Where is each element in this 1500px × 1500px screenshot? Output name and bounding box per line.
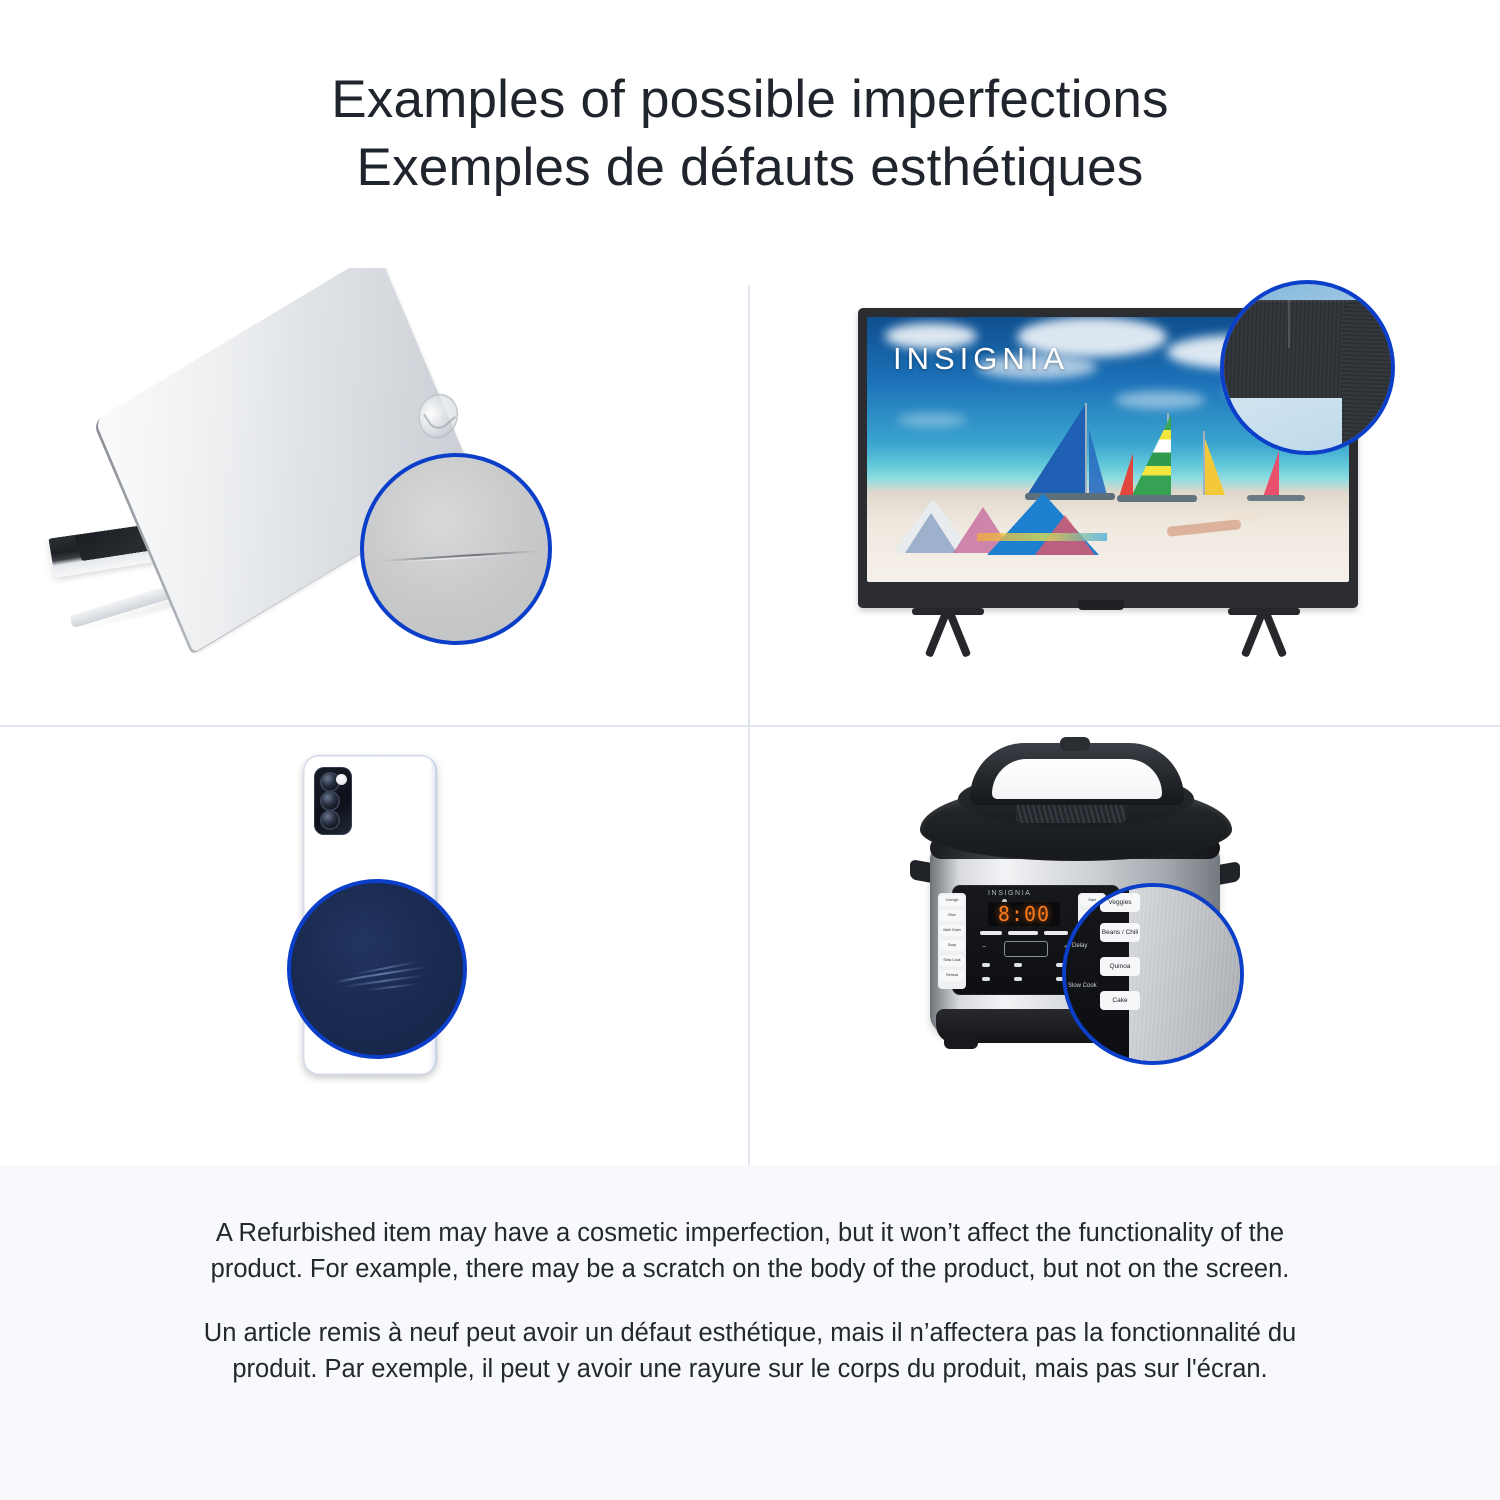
magnifier-smartphone [287,879,467,1059]
panel-indicator-bar [1044,931,1068,935]
cooker-handle-opening [992,759,1162,799]
panel-indicator-bar [980,931,1002,935]
cooker-button-magnified[interactable]: Quinoa [1100,957,1140,976]
cooker-button[interactable]: Rice [940,910,964,921]
cooker-lid-badge [1016,803,1126,823]
panel-center-button[interactable] [1004,941,1048,957]
cooker-lid-handle [970,743,1184,805]
pressure-cooker-illustration: INSIGNIA 8:00 − + [910,737,1340,1157]
cooker-button-magnified[interactable]: Beans / Chili [1100,923,1140,942]
cooker-button-column-left: Corn/gh Rice Multi Grain Soup Slow Cook … [938,893,966,989]
hull-striped [1117,495,1197,502]
cooker-display-value: 8:00 [998,904,1050,924]
tv-side-bezel-magnified [1342,300,1395,455]
beach-tent [905,513,957,553]
scratch-mark-laptop [382,549,538,561]
cloud-shape [1115,391,1205,409]
camera-lens-icon [320,810,340,830]
example-cell-pressure-cooker: INSIGNIA 8:00 − + [750,727,1500,1165]
footer-paragraph-fr: Un article remis à neuf peut avoir un dé… [185,1315,1315,1387]
page-footer: A Refurbished item may have a cosmetic i… [0,1165,1500,1500]
example-cell-television: INSIGNIA [750,268,1500,725]
magnifier-pressure-cooker: Delay Slow Cook Veggies Beans / Chili Qu… [1062,883,1244,1065]
sail-pink [1263,451,1279,497]
panel-indicator-bar [1008,931,1038,935]
cooker-brand-wordmark: INSIGNIA [988,890,1032,897]
page-header: Examples of possible imperfections Exemp… [0,0,1500,268]
scratch-mark-cooker [1239,1005,1244,1015]
scratch-mark-phone [331,959,441,993]
cooker-label-magnified: Delay [1072,943,1087,949]
page-title-fr: Exemples de défauts esthétiques [357,134,1144,202]
tv-bezel-seam [1288,300,1290,348]
tv-leg-right [1218,608,1314,662]
imperfections-infographic: Examples of possible imperfections Exemp… [0,0,1500,1500]
minus-icon[interactable]: − [982,945,988,951]
cooker-label-magnified: Slow Cook [1068,983,1097,989]
camera-lens-icon [320,791,340,811]
example-cell-smartphone [0,727,748,1165]
cooker-button[interactable]: Reheat [940,970,964,981]
cooker-foot [944,1037,978,1049]
footer-paragraph-en: A Refurbished item may have a cosmetic i… [185,1215,1315,1287]
sail-striped [1131,415,1171,497]
beach-object [1167,519,1242,537]
beach-banner [977,533,1107,541]
panel-small-button[interactable] [1014,963,1022,967]
smartphone-illustration [245,747,505,1147]
television-illustration: INSIGNIA [850,280,1390,700]
cooker-button-magnified[interactable]: Veggies [1100,893,1140,912]
laptop-illustration [40,298,600,698]
camera-module-icon [314,767,352,835]
tv-brand-wordmark: INSIGNIA [893,341,1069,377]
sail-mast [1203,431,1205,495]
page-title-en: Examples of possible imperfections [331,66,1169,134]
steel-grain-texture [1129,887,1240,1061]
cooker-steel-magnified [1129,887,1240,1061]
sail-blue-jib [1089,429,1107,495]
cooker-button[interactable]: Soup [940,940,964,951]
panel-small-button[interactable] [982,963,990,967]
cooker-button[interactable]: Multi Grain [940,925,964,936]
sail-yellow [1203,433,1225,495]
cooker-steam-valve [1060,737,1090,751]
panel-small-button[interactable] [982,977,990,981]
magnifier-laptop [360,453,552,645]
tv-center-mount [1078,600,1124,610]
example-cell-laptop [0,268,748,725]
camera-flash-icon [336,774,347,785]
cooker-button[interactable]: Slow Cook [940,955,964,966]
cooker-led-display: 8:00 [988,902,1060,926]
cooker-button[interactable]: Corn/gh [940,895,964,906]
examples-grid: INSIGNIA [0,268,1500,1165]
tv-leg-left [902,608,998,662]
cloud-shape [897,413,967,427]
sail-red-jib [1119,453,1133,497]
panel-small-button[interactable] [1014,977,1022,981]
magnifier-television [1220,280,1395,455]
hull-pink [1247,495,1305,501]
cooker-button-magnified[interactable]: Cake [1100,991,1140,1010]
laptop-brand-logo-icon [411,385,466,448]
sail-blue [1027,405,1085,495]
sail-mast [1085,403,1087,495]
